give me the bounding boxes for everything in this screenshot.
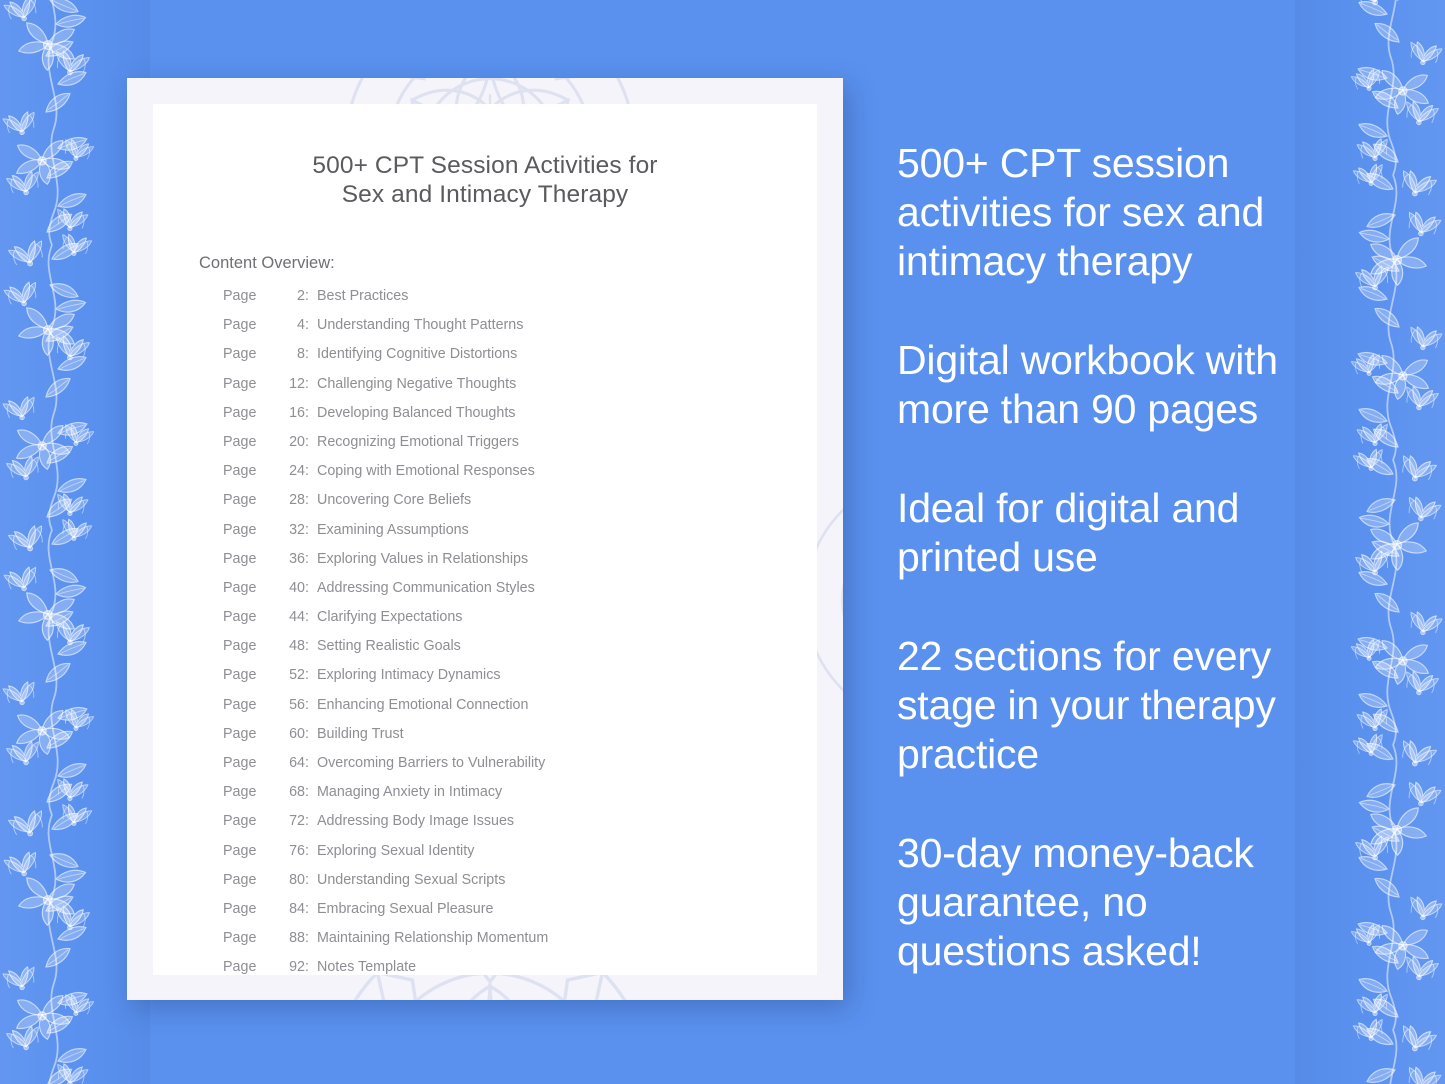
toc-page-word: Page [223, 288, 281, 304]
toc-section-title: Building Trust [317, 726, 404, 742]
toc-section-title: Managing Anxiety in Intimacy [317, 784, 502, 800]
toc-row: Page44:Clarifying Expectations [153, 609, 817, 638]
toc-row: Page40:Addressing Communication Styles [153, 580, 817, 609]
toc-page-number: 60 [281, 726, 305, 742]
toc-section-title: Uncovering Core Beliefs [317, 492, 471, 508]
toc-page-word: Page [223, 697, 281, 713]
toc-section-title: Embracing Sexual Pleasure [317, 901, 493, 917]
toc-colon: : [305, 872, 317, 888]
toc-section-title: Notes Template [317, 959, 416, 975]
toc-page-number: 52 [281, 667, 305, 683]
toc-page-number: 28 [281, 492, 305, 508]
toc-colon: : [305, 346, 317, 362]
marketing-bullet: Ideal for digital and printed use [897, 484, 1327, 582]
toc-page-number: 40 [281, 580, 305, 596]
toc-colon: : [305, 784, 317, 800]
toc-page-number: 68 [281, 784, 305, 800]
toc-page-number: 8 [281, 346, 305, 362]
toc-page-word: Page [223, 959, 281, 975]
workbook-card: 500+ CPT Session Activities for Sex and … [127, 78, 843, 1000]
toc-section-title: Exploring Values in Relationships [317, 551, 528, 567]
toc-page-number: 20 [281, 434, 305, 450]
toc-page-number: 88 [281, 930, 305, 946]
toc-colon: : [305, 726, 317, 742]
toc-page-word: Page [223, 492, 281, 508]
toc-row: Page32:Examining Assumptions [153, 522, 817, 551]
toc-page-word: Page [223, 346, 281, 362]
toc-row: Page28:Uncovering Core Beliefs [153, 492, 817, 521]
toc-row: Page36:Exploring Values in Relationships [153, 551, 817, 580]
toc-colon: : [305, 463, 317, 479]
toc-section-title: Exploring Sexual Identity [317, 843, 474, 859]
toc-row: Page80:Understanding Sexual Scripts [153, 872, 817, 901]
toc-page-number: 36 [281, 551, 305, 567]
toc-page-word: Page [223, 872, 281, 888]
toc-page-number: 92 [281, 959, 305, 975]
toc-row: Page4:Understanding Thought Patterns [153, 317, 817, 346]
toc-page-word: Page [223, 901, 281, 917]
toc-colon: : [305, 288, 317, 304]
marketing-bullet: 22 sections for every stage in your ther… [897, 632, 1327, 779]
toc-page-number: 32 [281, 522, 305, 538]
toc-page-number: 80 [281, 872, 305, 888]
toc-colon: : [305, 376, 317, 392]
toc-section-title: Understanding Sexual Scripts [317, 872, 505, 888]
toc-page-word: Page [223, 551, 281, 567]
toc-page-number: 44 [281, 609, 305, 625]
toc-section-title: Enhancing Emotional Connection [317, 697, 528, 713]
page-title-line-1: 500+ CPT Session Activities for [153, 151, 817, 180]
page-title: 500+ CPT Session Activities for Sex and … [153, 104, 817, 209]
toc-section-title: Examining Assumptions [317, 522, 469, 538]
toc-page-word: Page [223, 930, 281, 946]
toc-colon: : [305, 813, 317, 829]
toc-page-word: Page [223, 609, 281, 625]
toc-colon: : [305, 580, 317, 596]
toc-section-title: Exploring Intimacy Dynamics [317, 667, 501, 683]
page-title-line-2: Sex and Intimacy Therapy [153, 180, 817, 209]
toc-section-title: Challenging Negative Thoughts [317, 376, 516, 392]
toc-row: Page84:Embracing Sexual Pleasure [153, 901, 817, 930]
toc-row: Page16:Developing Balanced Thoughts [153, 405, 817, 434]
toc-section-title: Maintaining Relationship Momentum [317, 930, 548, 946]
toc-colon: : [305, 551, 317, 567]
toc-row: Page88:Maintaining Relationship Momentum [153, 930, 817, 959]
toc-page-word: Page [223, 843, 281, 859]
toc-page-number: 12 [281, 376, 305, 392]
content-overview-label: Content Overview: [153, 209, 817, 273]
toc-row: Page92:Notes Template [153, 959, 817, 988]
marketing-bullets: 500+ CPT session activities for sex and … [897, 139, 1327, 976]
toc-page-word: Page [223, 726, 281, 742]
toc-colon: : [305, 667, 317, 683]
toc-row: Page76:Exploring Sexual Identity [153, 843, 817, 872]
toc-colon: : [305, 317, 317, 333]
toc-page-word: Page [223, 405, 281, 421]
marketing-bullet: Digital workbook with more than 90 pages [897, 336, 1327, 434]
toc-colon: : [305, 959, 317, 975]
toc-page-word: Page [223, 813, 281, 829]
toc-page-word: Page [223, 463, 281, 479]
toc-row: Page72:Addressing Body Image Issues [153, 813, 817, 842]
toc-page-word: Page [223, 667, 281, 683]
toc-page-word: Page [223, 434, 281, 450]
toc-section-title: Setting Realistic Goals [317, 638, 461, 654]
toc-row: Page20:Recognizing Emotional Triggers [153, 434, 817, 463]
toc-page-word: Page [223, 755, 281, 771]
toc-section-title: Clarifying Expectations [317, 609, 462, 625]
toc-page-number: 48 [281, 638, 305, 654]
toc-colon: : [305, 843, 317, 859]
toc-page-word: Page [223, 376, 281, 392]
toc-row: Page8:Identifying Cognitive Distortions [153, 346, 817, 375]
toc-page-number: 24 [281, 463, 305, 479]
toc-row: Page24:Coping with Emotional Responses [153, 463, 817, 492]
table-of-contents: Page2:Best PracticesPage4:Understanding … [153, 273, 817, 989]
toc-row: Page56:Enhancing Emotional Connection [153, 697, 817, 726]
toc-section-title: Coping with Emotional Responses [317, 463, 535, 479]
toc-section-title: Identifying Cognitive Distortions [317, 346, 517, 362]
marketing-bullet: 30-day money-back guarantee, no question… [897, 829, 1327, 976]
toc-section-title: Best Practices [317, 288, 408, 304]
toc-page-number: 2 [281, 288, 305, 304]
toc-colon: : [305, 638, 317, 654]
toc-colon: : [305, 522, 317, 538]
floral-vine-border-left-icon [0, 0, 108, 1084]
toc-section-title: Recognizing Emotional Triggers [317, 434, 519, 450]
marketing-bullet: 500+ CPT session activities for sex and … [897, 139, 1327, 286]
toc-page-number: 56 [281, 697, 305, 713]
toc-page-word: Page [223, 522, 281, 538]
toc-section-title: Understanding Thought Patterns [317, 317, 523, 333]
toc-page-word: Page [223, 580, 281, 596]
toc-row: Page12:Challenging Negative Thoughts [153, 376, 817, 405]
toc-colon: : [305, 755, 317, 771]
toc-section-title: Addressing Body Image Issues [317, 813, 514, 829]
toc-page-number: 16 [281, 405, 305, 421]
toc-page-number: 76 [281, 843, 305, 859]
toc-row: Page2:Best Practices [153, 288, 817, 317]
toc-section-title: Addressing Communication Styles [317, 580, 535, 596]
toc-row: Page48:Setting Realistic Goals [153, 638, 817, 667]
toc-colon: : [305, 609, 317, 625]
toc-colon: : [305, 930, 317, 946]
toc-page-word: Page [223, 638, 281, 654]
toc-page-word: Page [223, 317, 281, 333]
toc-row: Page52:Exploring Intimacy Dynamics [153, 667, 817, 696]
toc-colon: : [305, 901, 317, 917]
toc-section-title: Overcoming Barriers to Vulnerability [317, 755, 545, 771]
toc-row: Page60:Building Trust [153, 726, 817, 755]
toc-row: Page64:Overcoming Barriers to Vulnerabil… [153, 755, 817, 784]
toc-colon: : [305, 434, 317, 450]
toc-page-number: 72 [281, 813, 305, 829]
toc-row: Page68:Managing Anxiety in Intimacy [153, 784, 817, 813]
toc-page-number: 84 [281, 901, 305, 917]
toc-colon: : [305, 492, 317, 508]
toc-colon: : [305, 405, 317, 421]
toc-page-number: 4 [281, 317, 305, 333]
toc-page-number: 64 [281, 755, 305, 771]
poster-canvas: 500+ CPT Session Activities for Sex and … [0, 0, 1445, 1084]
toc-section-title: Developing Balanced Thoughts [317, 405, 515, 421]
workbook-page: 500+ CPT Session Activities for Sex and … [153, 104, 817, 975]
floral-vine-border-right-icon [1337, 0, 1445, 1084]
toc-page-word: Page [223, 784, 281, 800]
toc-colon: : [305, 697, 317, 713]
